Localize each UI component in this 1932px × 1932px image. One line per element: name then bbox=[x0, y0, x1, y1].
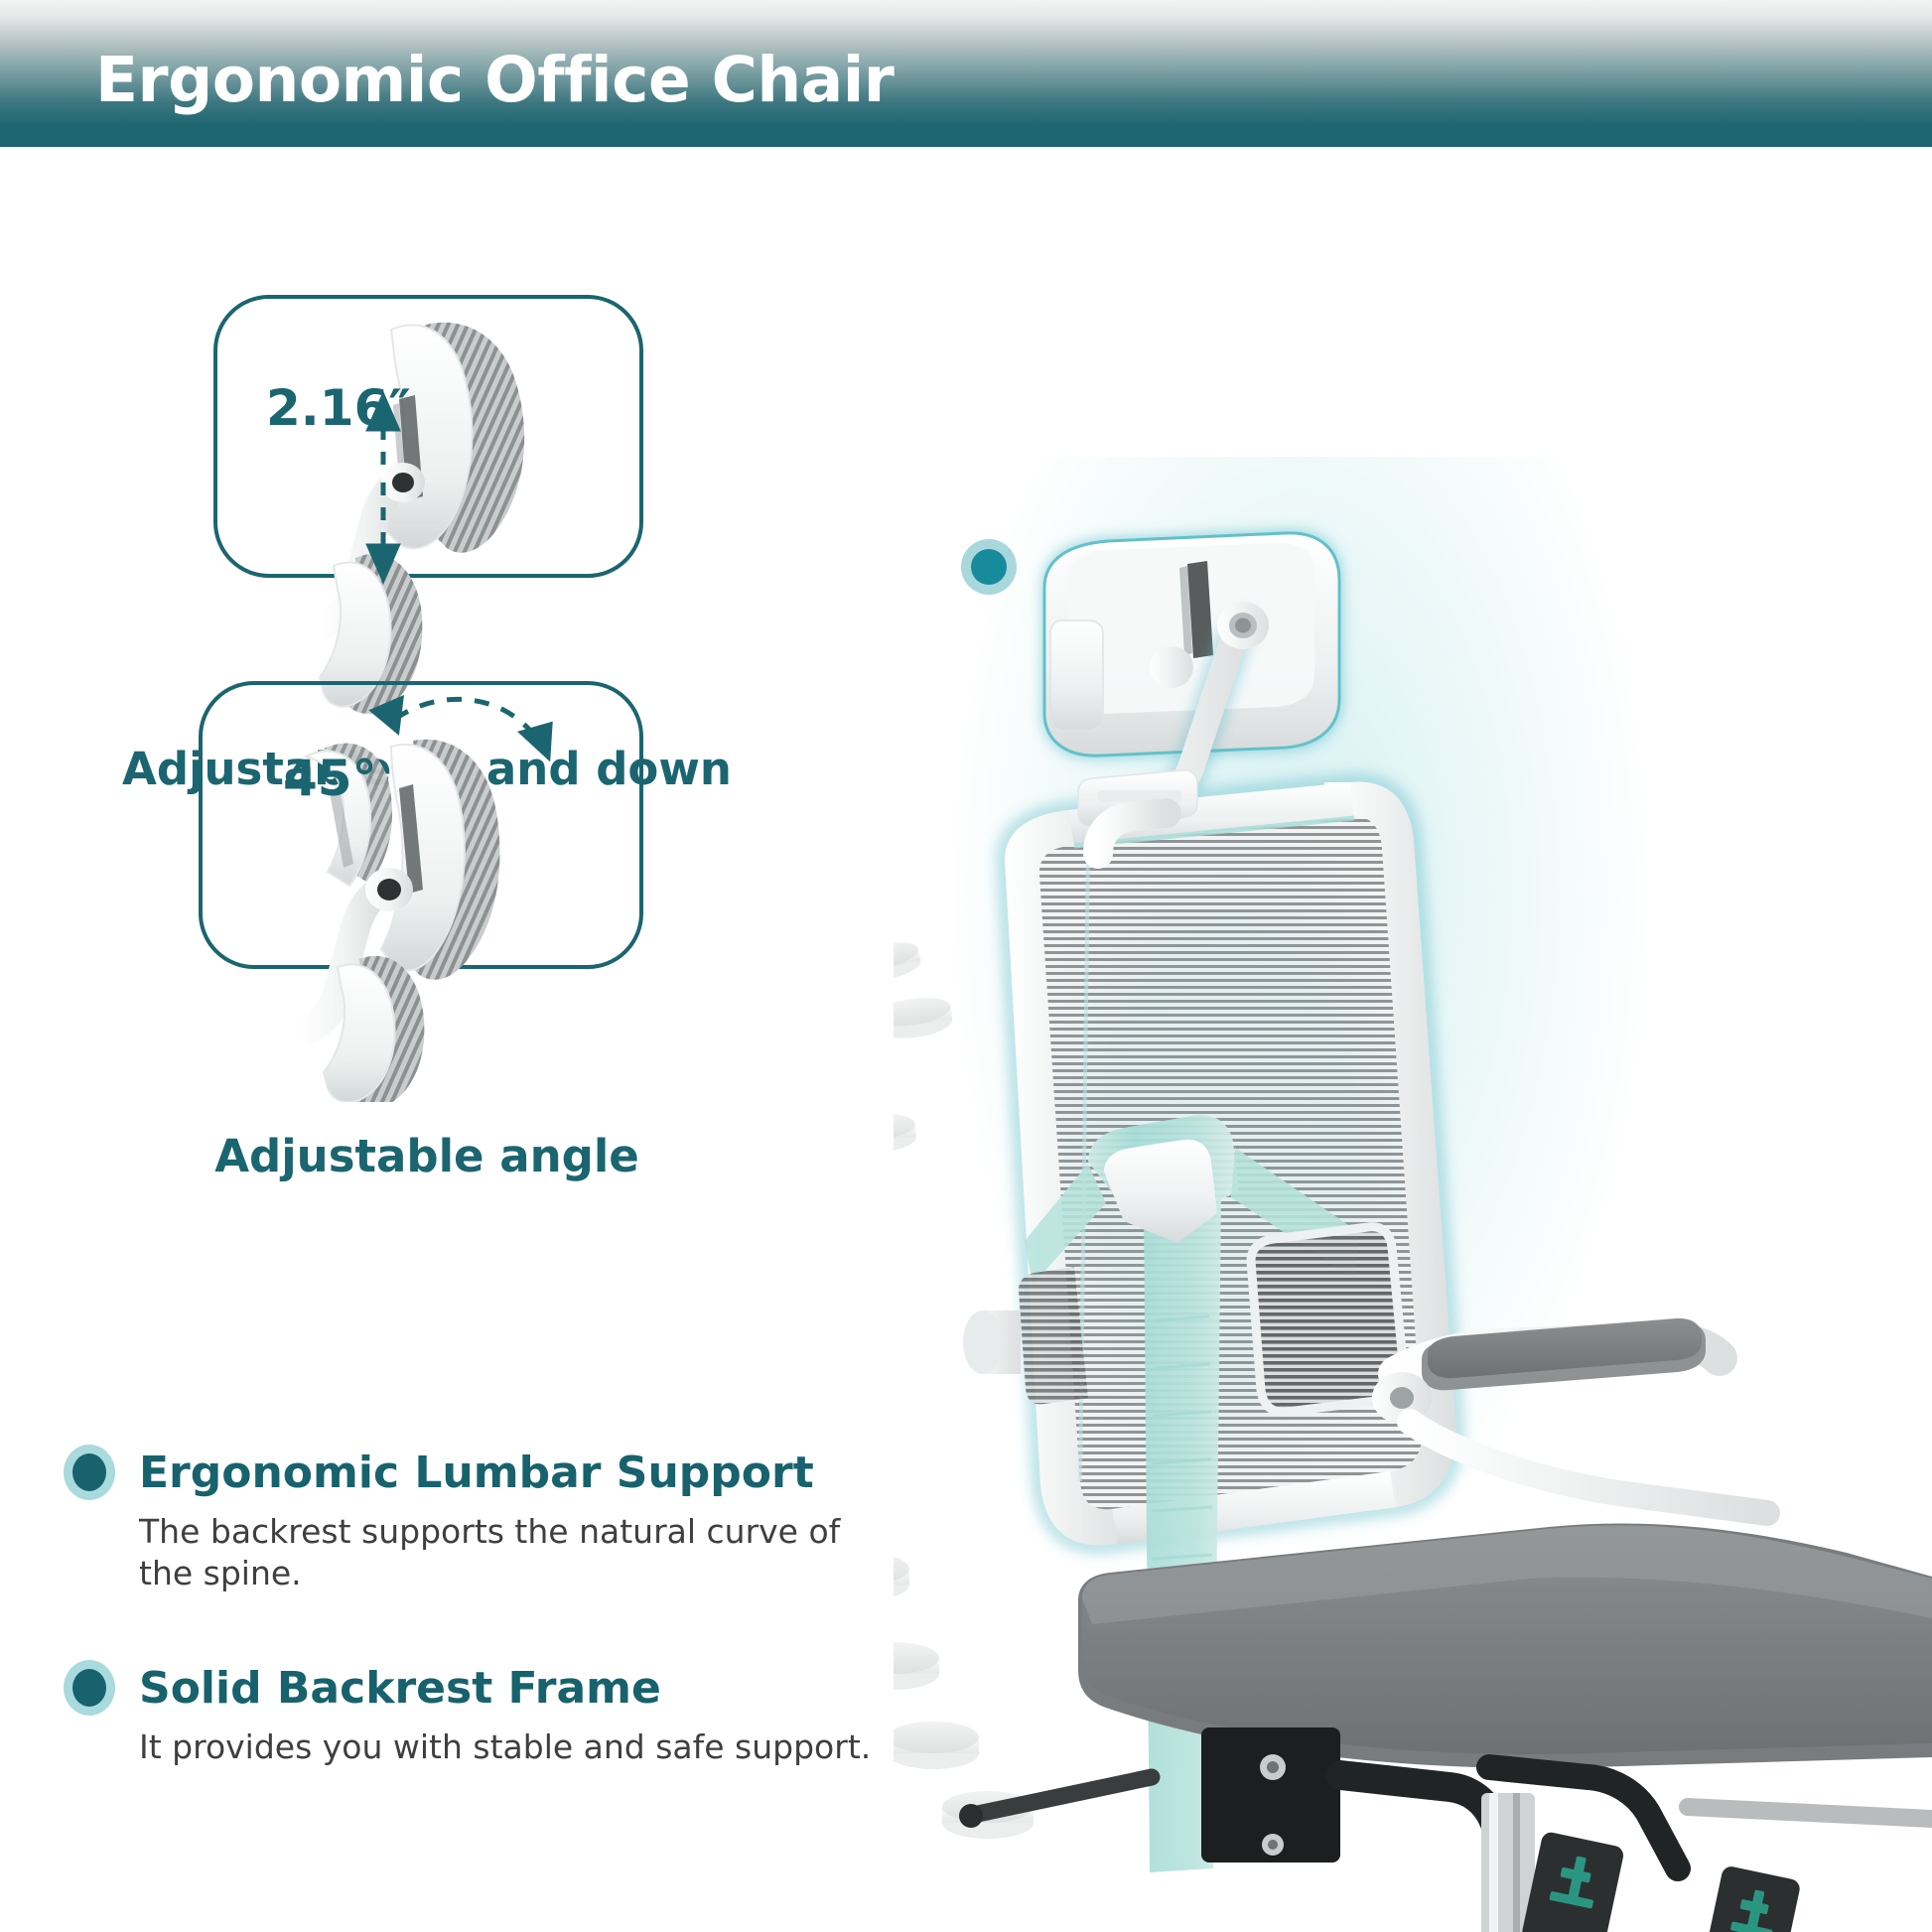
bullet-dot-icon bbox=[64, 1445, 115, 1500]
feature-item-backrest-frame: Solid Backrest Frame It provides you wit… bbox=[64, 1660, 888, 1768]
dimension-label-angle: 45° bbox=[283, 750, 377, 807]
header-banner: Ergonomic Office Chair bbox=[0, 0, 1932, 147]
feature-title: Ergonomic Lumbar Support bbox=[139, 1448, 814, 1498]
page-title: Ergonomic Office Chair bbox=[95, 44, 894, 116]
dimension-label-height: 2.16″ bbox=[266, 379, 411, 437]
feature-description: The backrest supports the natural curve … bbox=[139, 1511, 888, 1594]
feature-title: Solid Backrest Frame bbox=[139, 1663, 661, 1714]
product-photo-chair bbox=[894, 159, 1932, 1932]
headrest-angle-illustration bbox=[179, 675, 695, 1102]
headrest-marker-dot-icon bbox=[961, 539, 1017, 595]
feature-heading-row: Solid Backrest Frame bbox=[64, 1660, 888, 1716]
feature-heading-row: Ergonomic Lumbar Support bbox=[64, 1445, 888, 1500]
feature-item-lumbar-support: Ergonomic Lumbar Support The backrest su… bbox=[64, 1445, 888, 1594]
feature-description: It provides you with stable and safe sup… bbox=[139, 1726, 888, 1768]
chair-illustration bbox=[894, 159, 1932, 1932]
feature-list: Ergonomic Lumbar Support The backrest su… bbox=[64, 1445, 888, 1835]
bullet-dot-icon bbox=[64, 1660, 115, 1716]
callout-caption-angle: Adjustable angle bbox=[0, 1130, 854, 1182]
